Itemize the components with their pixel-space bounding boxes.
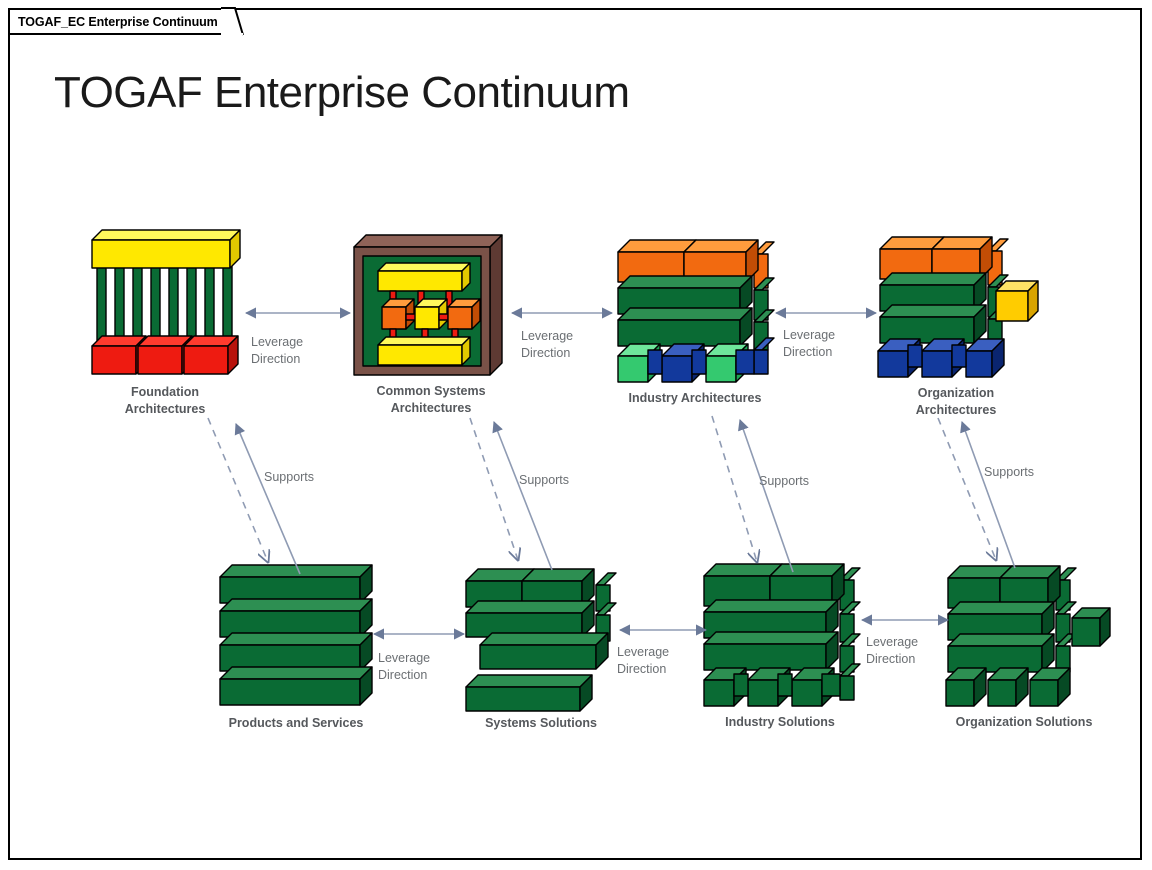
leverage-direction-label: Leverage Direction xyxy=(378,650,430,684)
supports-label: Supports xyxy=(984,464,1034,481)
realize-arrow-1 xyxy=(208,418,268,562)
connector-layer xyxy=(0,0,1152,870)
leverage-direction-label: Leverage Direction xyxy=(251,334,303,368)
leverage-direction-label: Leverage Direction xyxy=(617,644,669,678)
tab-corner-shape xyxy=(221,8,243,35)
leverage-direction-label: Leverage Direction xyxy=(783,327,835,361)
realize-arrow-3 xyxy=(712,416,757,562)
leverage-direction-label: Leverage Direction xyxy=(521,328,573,362)
leverage-direction-label: Leverage Direction xyxy=(866,634,918,668)
document-tab[interactable]: TOGAF_EC Enterprise Continuum xyxy=(8,8,226,35)
supports-arrow-2 xyxy=(494,422,552,570)
supports-label: Supports xyxy=(264,469,314,486)
supports-arrow-3 xyxy=(740,420,793,572)
realize-arrow-4 xyxy=(938,418,996,560)
document-tab-label: TOGAF_EC Enterprise Continuum xyxy=(18,15,218,29)
realize-arrow-2 xyxy=(470,418,518,560)
supports-arrow-1 xyxy=(236,424,300,574)
diagram-canvas: TOGAF_EC Enterprise Continuum TOGAF Ente… xyxy=(0,0,1152,870)
supports-label: Supports xyxy=(759,473,809,490)
supports-label: Supports xyxy=(519,472,569,489)
